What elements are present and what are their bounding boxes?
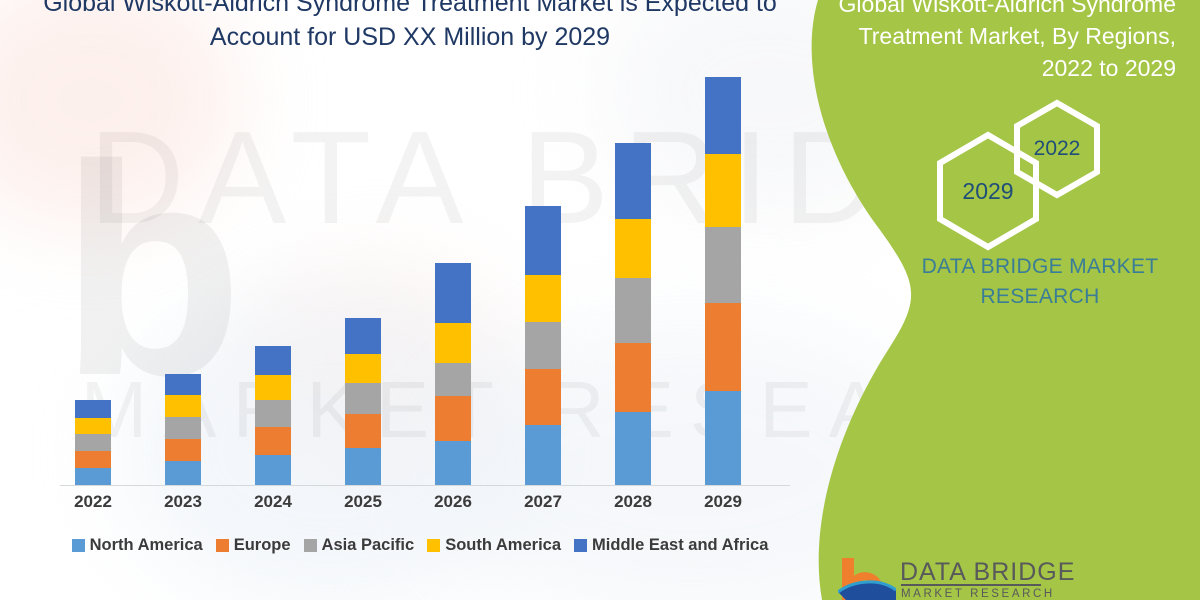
x-axis-label: 2024 <box>233 492 313 512</box>
legend-item[interactable]: Asia Pacific <box>304 536 415 555</box>
hexagon-badge-2029-label: 2029 <box>962 178 1013 205</box>
bar-segment <box>705 391 741 486</box>
bar-segment <box>615 219 651 277</box>
brand-name-text: DATA BRIDGE MARKET RESEARCH <box>890 252 1190 312</box>
bar-segment <box>705 303 741 390</box>
bar-segment <box>435 441 471 486</box>
bar-segment <box>705 77 741 154</box>
bar-group <box>345 318 381 486</box>
bar-group <box>255 346 291 486</box>
bar-group <box>525 206 561 486</box>
bar-segment <box>525 322 561 369</box>
x-axis-label: 2028 <box>593 492 673 512</box>
bar-segment <box>255 427 291 455</box>
bar-segment <box>435 323 471 362</box>
bar-series-container <box>40 60 800 486</box>
bar-segment <box>345 383 381 414</box>
hexagon-badge-2022: 2022 <box>1011 99 1103 199</box>
bar-group <box>165 374 201 486</box>
bar-segment <box>75 400 111 418</box>
infographic-root: b DATA BRIDGE MARKET RESEARCH Global Wis… <box>0 0 1200 600</box>
bar-segment <box>255 346 291 375</box>
x-axis-label: 2029 <box>683 492 763 512</box>
bar-segment <box>615 412 651 486</box>
bar-segment <box>165 417 201 439</box>
legend-label: Asia Pacific <box>322 536 415 555</box>
bar-segment <box>255 400 291 427</box>
legend-label: Europe <box>234 536 291 555</box>
legend-swatch <box>72 539 85 552</box>
bar-group <box>615 143 651 486</box>
legend-swatch <box>574 539 587 552</box>
bar-segment <box>255 455 291 486</box>
bar-segment <box>435 363 471 397</box>
legend-swatch <box>216 539 229 552</box>
x-axis-label: 2023 <box>143 492 223 512</box>
x-axis-labels: 20222023202420252026202720282029 <box>40 492 800 518</box>
legend-swatch <box>427 539 440 552</box>
bar-segment <box>705 154 741 227</box>
legend-label: North America <box>90 536 203 555</box>
x-axis-line <box>60 485 790 486</box>
bar-segment <box>615 343 651 413</box>
bar-segment <box>525 206 561 276</box>
panel-title: Global Wiskott-Aldrich Syndrome Treatmen… <box>812 0 1192 84</box>
x-axis-label: 2022 <box>53 492 133 512</box>
x-axis-label: 2026 <box>413 492 493 512</box>
bar-group <box>435 263 471 486</box>
legend-item[interactable]: Middle East and Africa <box>574 536 768 555</box>
bar-segment <box>165 395 201 416</box>
bar-group <box>705 77 741 486</box>
bar-segment <box>345 448 381 486</box>
bar-segment <box>75 418 111 435</box>
logo-title: DATA BRIDGE <box>900 558 1075 586</box>
bar-segment <box>75 434 111 451</box>
bar-segment <box>255 375 291 400</box>
bar-group <box>75 400 111 486</box>
x-axis-label: 2027 <box>503 492 583 512</box>
bar-segment <box>525 369 561 425</box>
legend-label: Middle East and Africa <box>592 536 768 555</box>
chart-title: Global Wiskott-Aldrich Syndrome Treatmen… <box>40 0 780 54</box>
bar-segment <box>525 425 561 486</box>
bar-segment <box>345 414 381 448</box>
legend-item[interactable]: South America <box>427 536 561 555</box>
bar-segment <box>75 468 111 486</box>
bar-segment <box>165 439 201 461</box>
bar-segment <box>165 374 201 395</box>
chart-plot-area <box>40 60 800 486</box>
logo-tagline: MARKET RESEARCH <box>901 587 1055 600</box>
bar-segment <box>165 461 201 486</box>
bar-segment <box>345 354 381 383</box>
bar-segment <box>525 275 561 322</box>
chart-legend: North AmericaEuropeAsia PacificSouth Ame… <box>40 536 800 555</box>
bar-segment <box>435 263 471 324</box>
legend-item[interactable]: Europe <box>216 536 291 555</box>
logo-mark-icon <box>838 556 896 600</box>
data-bridge-logo: DATA BRIDGE MARKET RESEARCH <box>838 556 1188 600</box>
bar-segment <box>75 451 111 468</box>
bar-segment <box>345 318 381 354</box>
bar-segment <box>615 278 651 343</box>
bar-segment <box>435 396 471 441</box>
x-axis-label: 2025 <box>323 492 403 512</box>
bar-segment <box>705 227 741 303</box>
legend-label: South America <box>445 536 561 555</box>
hexagon-badge-2022-label: 2022 <box>1034 137 1081 161</box>
legend-item[interactable]: North America <box>72 536 203 555</box>
bar-segment <box>615 143 651 219</box>
legend-swatch <box>304 539 317 552</box>
